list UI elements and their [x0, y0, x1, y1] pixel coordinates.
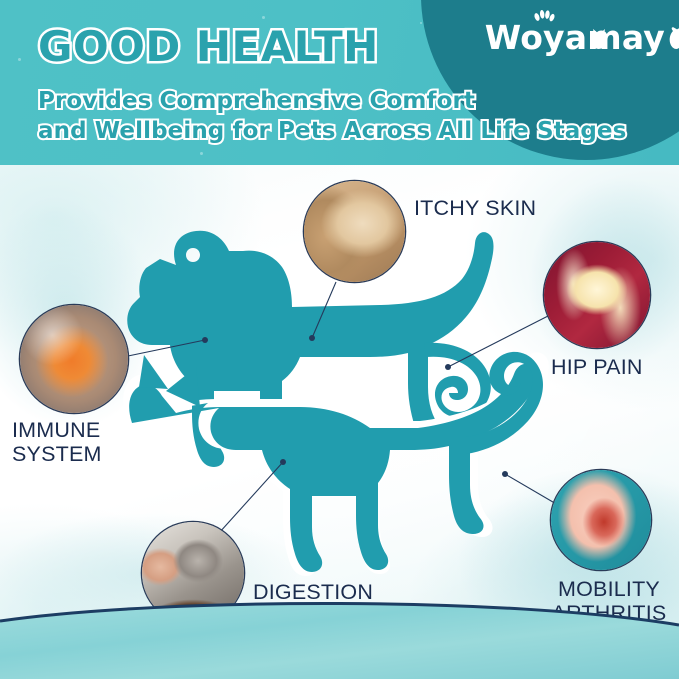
footer-fill	[0, 603, 679, 679]
virus-illustration	[20, 305, 128, 413]
immune-system-label: IMMUNE SYSTEM	[12, 418, 102, 466]
brand-logo[interactable]: Woyamay	[485, 18, 665, 57]
itchy-skin-image[interactable]	[304, 181, 405, 282]
cat-ear-front	[139, 355, 168, 389]
header-speck-3	[420, 22, 422, 24]
hip-pain-label: HIP PAIN	[551, 355, 643, 379]
header-speck-5	[200, 152, 203, 155]
immune-system-label-line2: SYSTEM	[12, 442, 102, 466]
brand-logo-text: Woyamay	[485, 18, 665, 57]
immune-system-image[interactable]	[20, 305, 128, 413]
footer-band	[0, 599, 679, 679]
header-speck-2	[262, 16, 265, 19]
poster-root: IMMUNE SYSTEM ITCHY SKIN HIP PAIN DIGEST…	[0, 0, 679, 679]
itchy-skin-label: ITCHY SKIN	[414, 196, 536, 220]
header-banner: Woyamay GOOD HEALTH Provides Comprehensi…	[0, 0, 679, 165]
hip-pain-image[interactable]	[544, 242, 650, 348]
subline-2: and Wellbeing for Pets Across All Life S…	[38, 118, 626, 144]
paw-print-icon	[533, 9, 555, 24]
knee-joint-illustration	[551, 470, 651, 570]
immune-system-label-line1: IMMUNE	[12, 418, 102, 442]
mobility-arthritis-image[interactable]	[551, 470, 651, 570]
header-speck-1	[18, 58, 21, 61]
headline: GOOD HEALTH	[38, 22, 379, 71]
mobility-arthritis-label-line1: MOBILITY	[549, 577, 669, 601]
subline-1: Provides Comprehensive Comfort	[38, 88, 475, 114]
dog-scratching-illustration	[304, 181, 405, 282]
hip-joint-illustration	[544, 242, 650, 348]
dog-glyph-icon	[668, 26, 679, 50]
cat-glyph-icon	[590, 28, 608, 50]
